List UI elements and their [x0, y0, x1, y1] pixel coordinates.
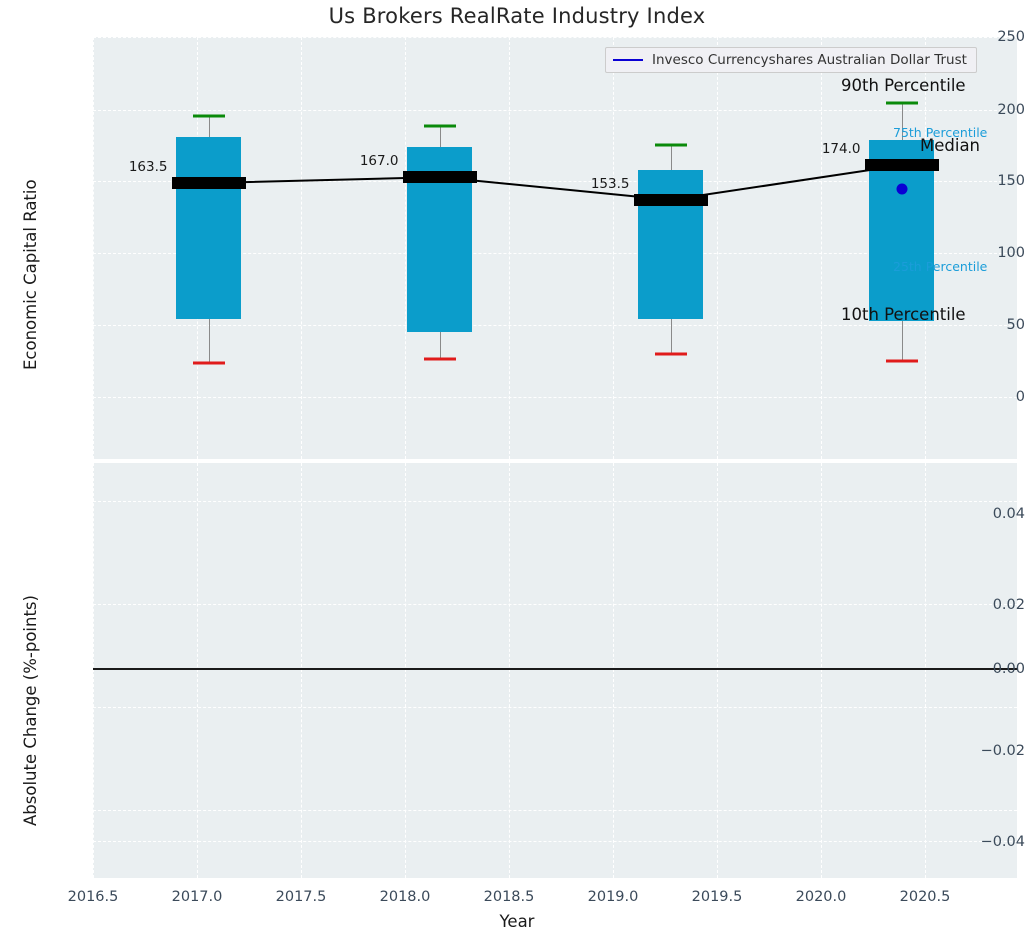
gridline-x2-2020-0: [821, 463, 822, 878]
gridline-x-2016-5: [93, 37, 94, 459]
xtick-2017-0: 2017.0: [172, 889, 223, 905]
gridline-x2-2019-5: [717, 463, 718, 878]
xtick-2020-0: 2020.0: [796, 889, 847, 905]
median-bar-2020: [865, 159, 939, 171]
xtick-2017-5: 2017.5: [276, 889, 327, 905]
ytick2-0-00: 0.00: [956, 661, 1034, 677]
gridline-y-50: [93, 325, 1017, 326]
gridline-x-2018-5: [509, 37, 510, 459]
gridline-x-2017-5: [301, 37, 302, 459]
ytick2-0-02: 0.02: [956, 597, 1034, 613]
series-point-invesco[interactable]: [896, 183, 907, 194]
ytick-150: 150: [956, 173, 1034, 189]
gridline-x-2019-0: [613, 37, 614, 459]
y-axis-label-upper: Economic Capital Ratio: [21, 179, 40, 370]
xtick-2018-5: 2018.5: [484, 889, 535, 905]
ytick-250: 250: [956, 29, 1034, 45]
ytick-200: 200: [956, 102, 1034, 118]
gridline-x2-2017-0: [197, 463, 198, 878]
ytick-0: 0: [956, 389, 1034, 405]
gridline-y2-neg-0-02: [93, 810, 1017, 811]
chart-figure: Us Brokers RealRate Industry Index 250 2…: [0, 0, 1034, 942]
gridline-x2-2017-5: [301, 463, 302, 878]
gridline-x-2019-5: [717, 37, 718, 459]
gridline-x-2020-0: [821, 37, 822, 459]
xtick-2020-5: 2020.5: [900, 889, 951, 905]
ytick-50: 50: [956, 317, 1034, 333]
box-2017: [176, 137, 241, 319]
gridline-y2-0-00: [93, 707, 1017, 708]
xtick-2019-5: 2019.5: [692, 889, 743, 905]
annotation-median: Median: [920, 136, 980, 155]
median-bar-2018: [403, 171, 477, 183]
y-axis-label-lower: Absolute Change (%-points): [21, 595, 40, 826]
chart-title: Us Brokers RealRate Industry Index: [0, 4, 1034, 28]
gridline-y-200: [93, 110, 1017, 111]
median-value-2017: 163.5: [129, 159, 168, 175]
ytick2-neg-0-02: −0.02: [956, 743, 1034, 759]
cap-p90-2020: [886, 101, 918, 104]
gridline-x2-2019-0: [613, 463, 614, 878]
median-value-2020: 174.0: [822, 141, 861, 157]
chart-legend[interactable]: Invesco Currencyshares Australian Dollar…: [605, 47, 977, 73]
cap-p10-2020: [886, 360, 918, 363]
zero-reference-line: [93, 668, 1017, 670]
annotation-90th-percentile: 90th Percentile: [841, 76, 966, 95]
gridline-y2-0-04: [93, 501, 1017, 502]
gridline-x2-2016-5: [93, 463, 94, 878]
legend-entry-label: Invesco Currencyshares Australian Dollar…: [652, 52, 967, 68]
xtick-2018-0: 2018.0: [380, 889, 431, 905]
gridline-y-250: [93, 37, 1017, 38]
gridline-y2-0-02: [93, 604, 1017, 605]
cap-p10-2017: [193, 361, 225, 364]
cap-p10-2018: [424, 358, 456, 361]
gridline-y2-neg-0-04: [93, 841, 1017, 842]
ytick2-0-04: 0.04: [956, 506, 1034, 522]
gridline-x-2018-0: [405, 37, 406, 459]
median-value-2018: 167.0: [360, 153, 399, 169]
cap-p90-2017: [193, 115, 225, 118]
gridline-x2-2018-5: [509, 463, 510, 878]
gridline-y-0: [93, 397, 1017, 398]
xtick-2019-0: 2019.0: [588, 889, 639, 905]
gridline-x2-2018-0: [405, 463, 406, 878]
ytick2-neg-0-04: −0.04: [956, 834, 1034, 850]
cap-p10-2019: [655, 353, 687, 356]
xtick-2016-5: 2016.5: [68, 889, 119, 905]
x-axis-label: Year: [0, 912, 1034, 931]
legend-line-swatch: [613, 59, 643, 61]
box-2019: [638, 170, 703, 319]
gridline-x2-2020-5: [925, 463, 926, 878]
annotation-10th-percentile: 10th Percentile: [841, 305, 966, 324]
annotation-25th-percentile: 25th Percentile: [893, 259, 987, 274]
cap-p90-2019: [655, 144, 687, 147]
median-bar-2019: [634, 194, 708, 206]
cap-p90-2018: [424, 125, 456, 128]
median-bar-2017: [172, 177, 246, 189]
lower-plot-panel: [93, 463, 1017, 878]
median-value-2019: 153.5: [591, 176, 630, 192]
